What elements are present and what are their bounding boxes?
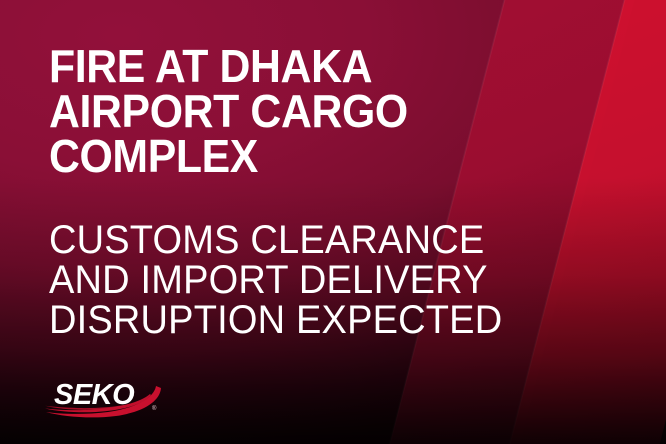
logo-trademark-icon: ®	[152, 405, 157, 412]
banner-content: FIRE AT DHAKA AIRPORT CARGO COMPLEX CUST…	[0, 0, 666, 444]
announcement-banner: FIRE AT DHAKA AIRPORT CARGO COMPLEX CUST…	[0, 0, 666, 444]
banner-subheading: CUSTOMS CLEARANCE AND IMPORT DELIVERY DI…	[49, 220, 619, 340]
page-title: FIRE AT DHAKA AIRPORT CARGO COMPLEX	[49, 44, 570, 179]
seko-logo: SEKO ®	[44, 374, 169, 422]
logo-wordmark: SEKO	[54, 379, 135, 411]
